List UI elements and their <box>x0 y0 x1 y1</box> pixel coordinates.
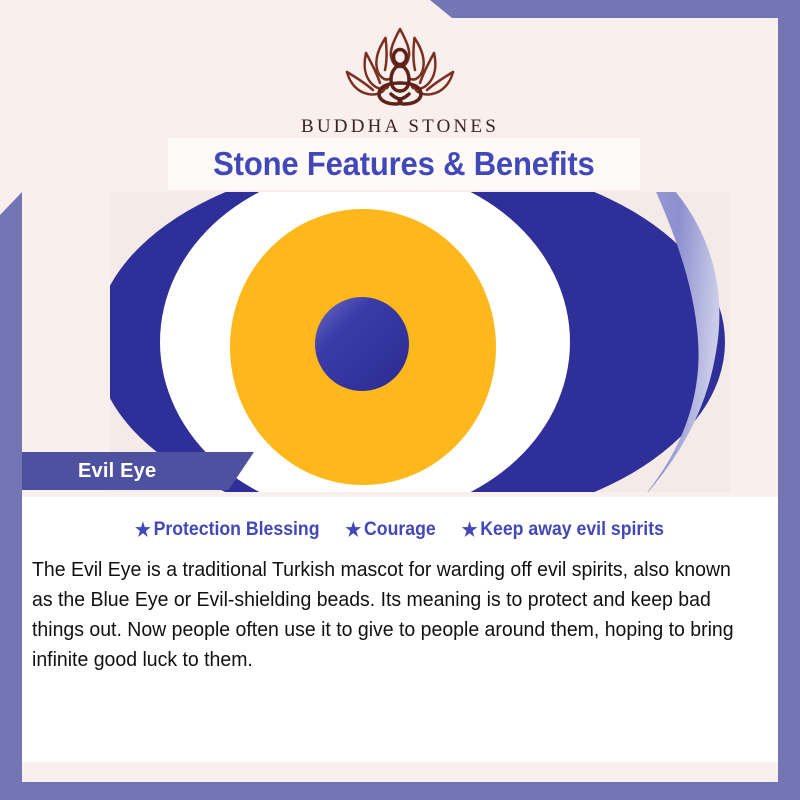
stone-name-label: Evil Eye <box>78 460 156 483</box>
benefit-label: Protection Blessing <box>154 519 320 541</box>
star-icon: ★ <box>462 521 478 540</box>
benefit-item: ★ Courage <box>345 519 435 541</box>
benefit-label: Keep away evil spirits <box>480 519 664 541</box>
description-text: The Evil Eye is a traditional Turkish ma… <box>32 555 735 675</box>
page-title: Stone Features & Benefits <box>213 145 594 183</box>
benefit-label: Courage <box>364 519 436 541</box>
lotus-meditation-icon <box>335 24 465 112</box>
description-card: ★ Protection Blessing ★ Courage ★ Keep a… <box>22 497 778 762</box>
frame-top-band <box>430 0 800 18</box>
infographic-canvas: BUDDHA STONES Stone Features & Benefits <box>0 0 800 800</box>
benefit-item: ★ Keep away evil spirits <box>462 519 664 541</box>
benefit-item: ★ Protection Blessing <box>135 519 320 541</box>
hero-image <box>110 192 730 492</box>
evil-eye-pupil <box>315 297 409 391</box>
page-title-bar: Stone Features & Benefits <box>168 138 640 190</box>
star-icon: ★ <box>135 521 151 540</box>
benefits-row: ★ Protection Blessing ★ Courage ★ Keep a… <box>22 519 778 541</box>
brand-wordmark: BUDDHA STONES <box>301 116 499 138</box>
brand-logo-block: BUDDHA STONES <box>0 24 800 138</box>
frame-left-band <box>0 192 22 800</box>
stone-name-banner: Evil Eye <box>22 452 254 490</box>
star-icon: ★ <box>345 521 361 540</box>
